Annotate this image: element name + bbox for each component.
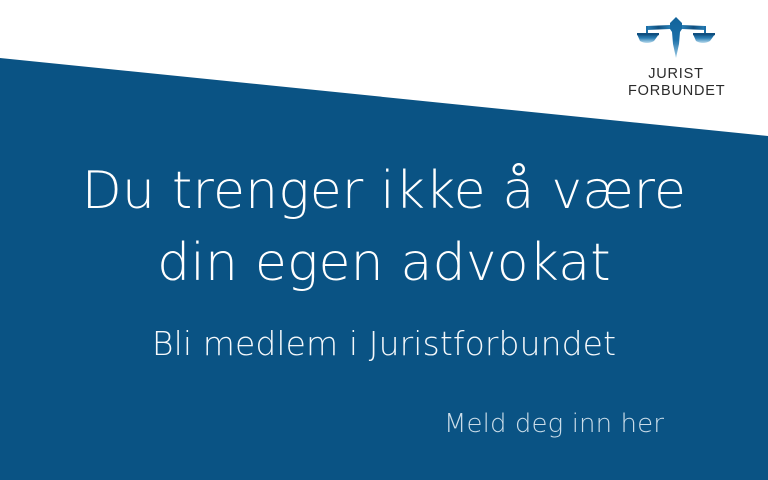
banner-content: Du trenger ikke å være din egen advokat … xyxy=(0,0,768,480)
banner-subtitle: Bli medlem i Juristforbundet xyxy=(0,327,768,360)
ad-banner: JURIST FORBUNDET Du trenger ikke å være … xyxy=(0,0,768,480)
signup-cta-link[interactable]: Meld deg inn her xyxy=(444,411,664,437)
headline-line-2: din egen advokat xyxy=(0,237,768,289)
headline-line-1: Du trenger ikke å være xyxy=(0,165,768,217)
